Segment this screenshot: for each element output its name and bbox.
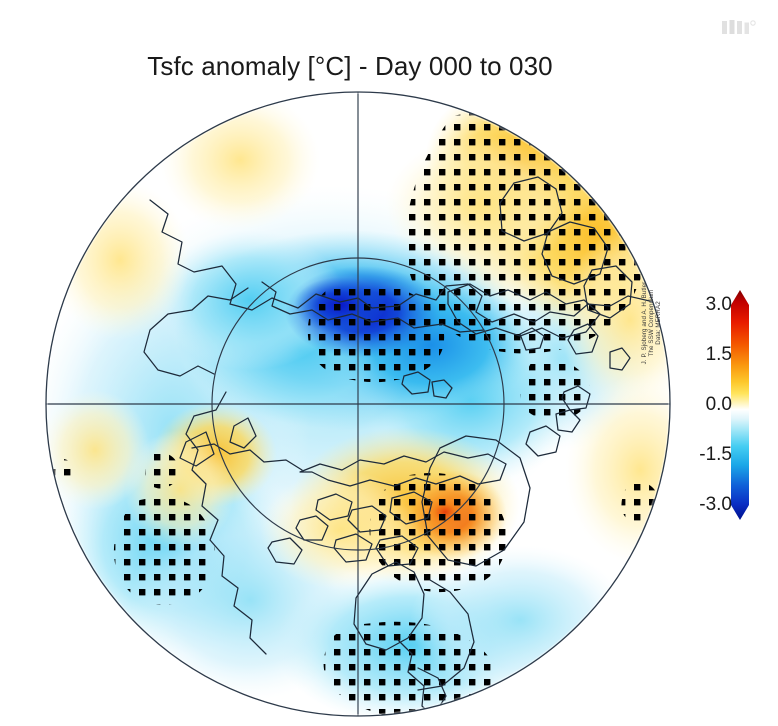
colorbar-tick-neg1-5: -1.5 [699, 444, 732, 466]
credit-line-authors: J. P. Sjoberg and A. H. Butler [641, 268, 648, 378]
colorbar-tick-1-5: 1.5 [706, 344, 732, 366]
colorbar-tick-3: 3.0 [706, 294, 732, 316]
credit-line-project: The SSW Compendium [648, 268, 655, 378]
stipple-north-pacific [114, 497, 215, 604]
colorbar: 3.0 1.5 0.0 -1.5 -3.0 [688, 282, 774, 532]
colorbar-tick-neg3: -3.0 [699, 494, 732, 516]
colorbar-tick-0: 0.0 [706, 394, 732, 416]
credit-text: J. P. Sjoberg and A. H. Butler The SSW C… [641, 268, 663, 378]
region-farwest-warm [40, 390, 150, 510]
credit-line-data: Data: MERRA2 [655, 268, 662, 378]
colorbar-tick-labels: 3.0 1.5 0.0 -1.5 -3.0 [688, 282, 732, 532]
figure-root: Tsfc anomaly [°C] - Day 000 to 030 [0, 0, 778, 726]
anomaly-field [30, 75, 715, 725]
region-northwest-warm [160, 90, 320, 230]
